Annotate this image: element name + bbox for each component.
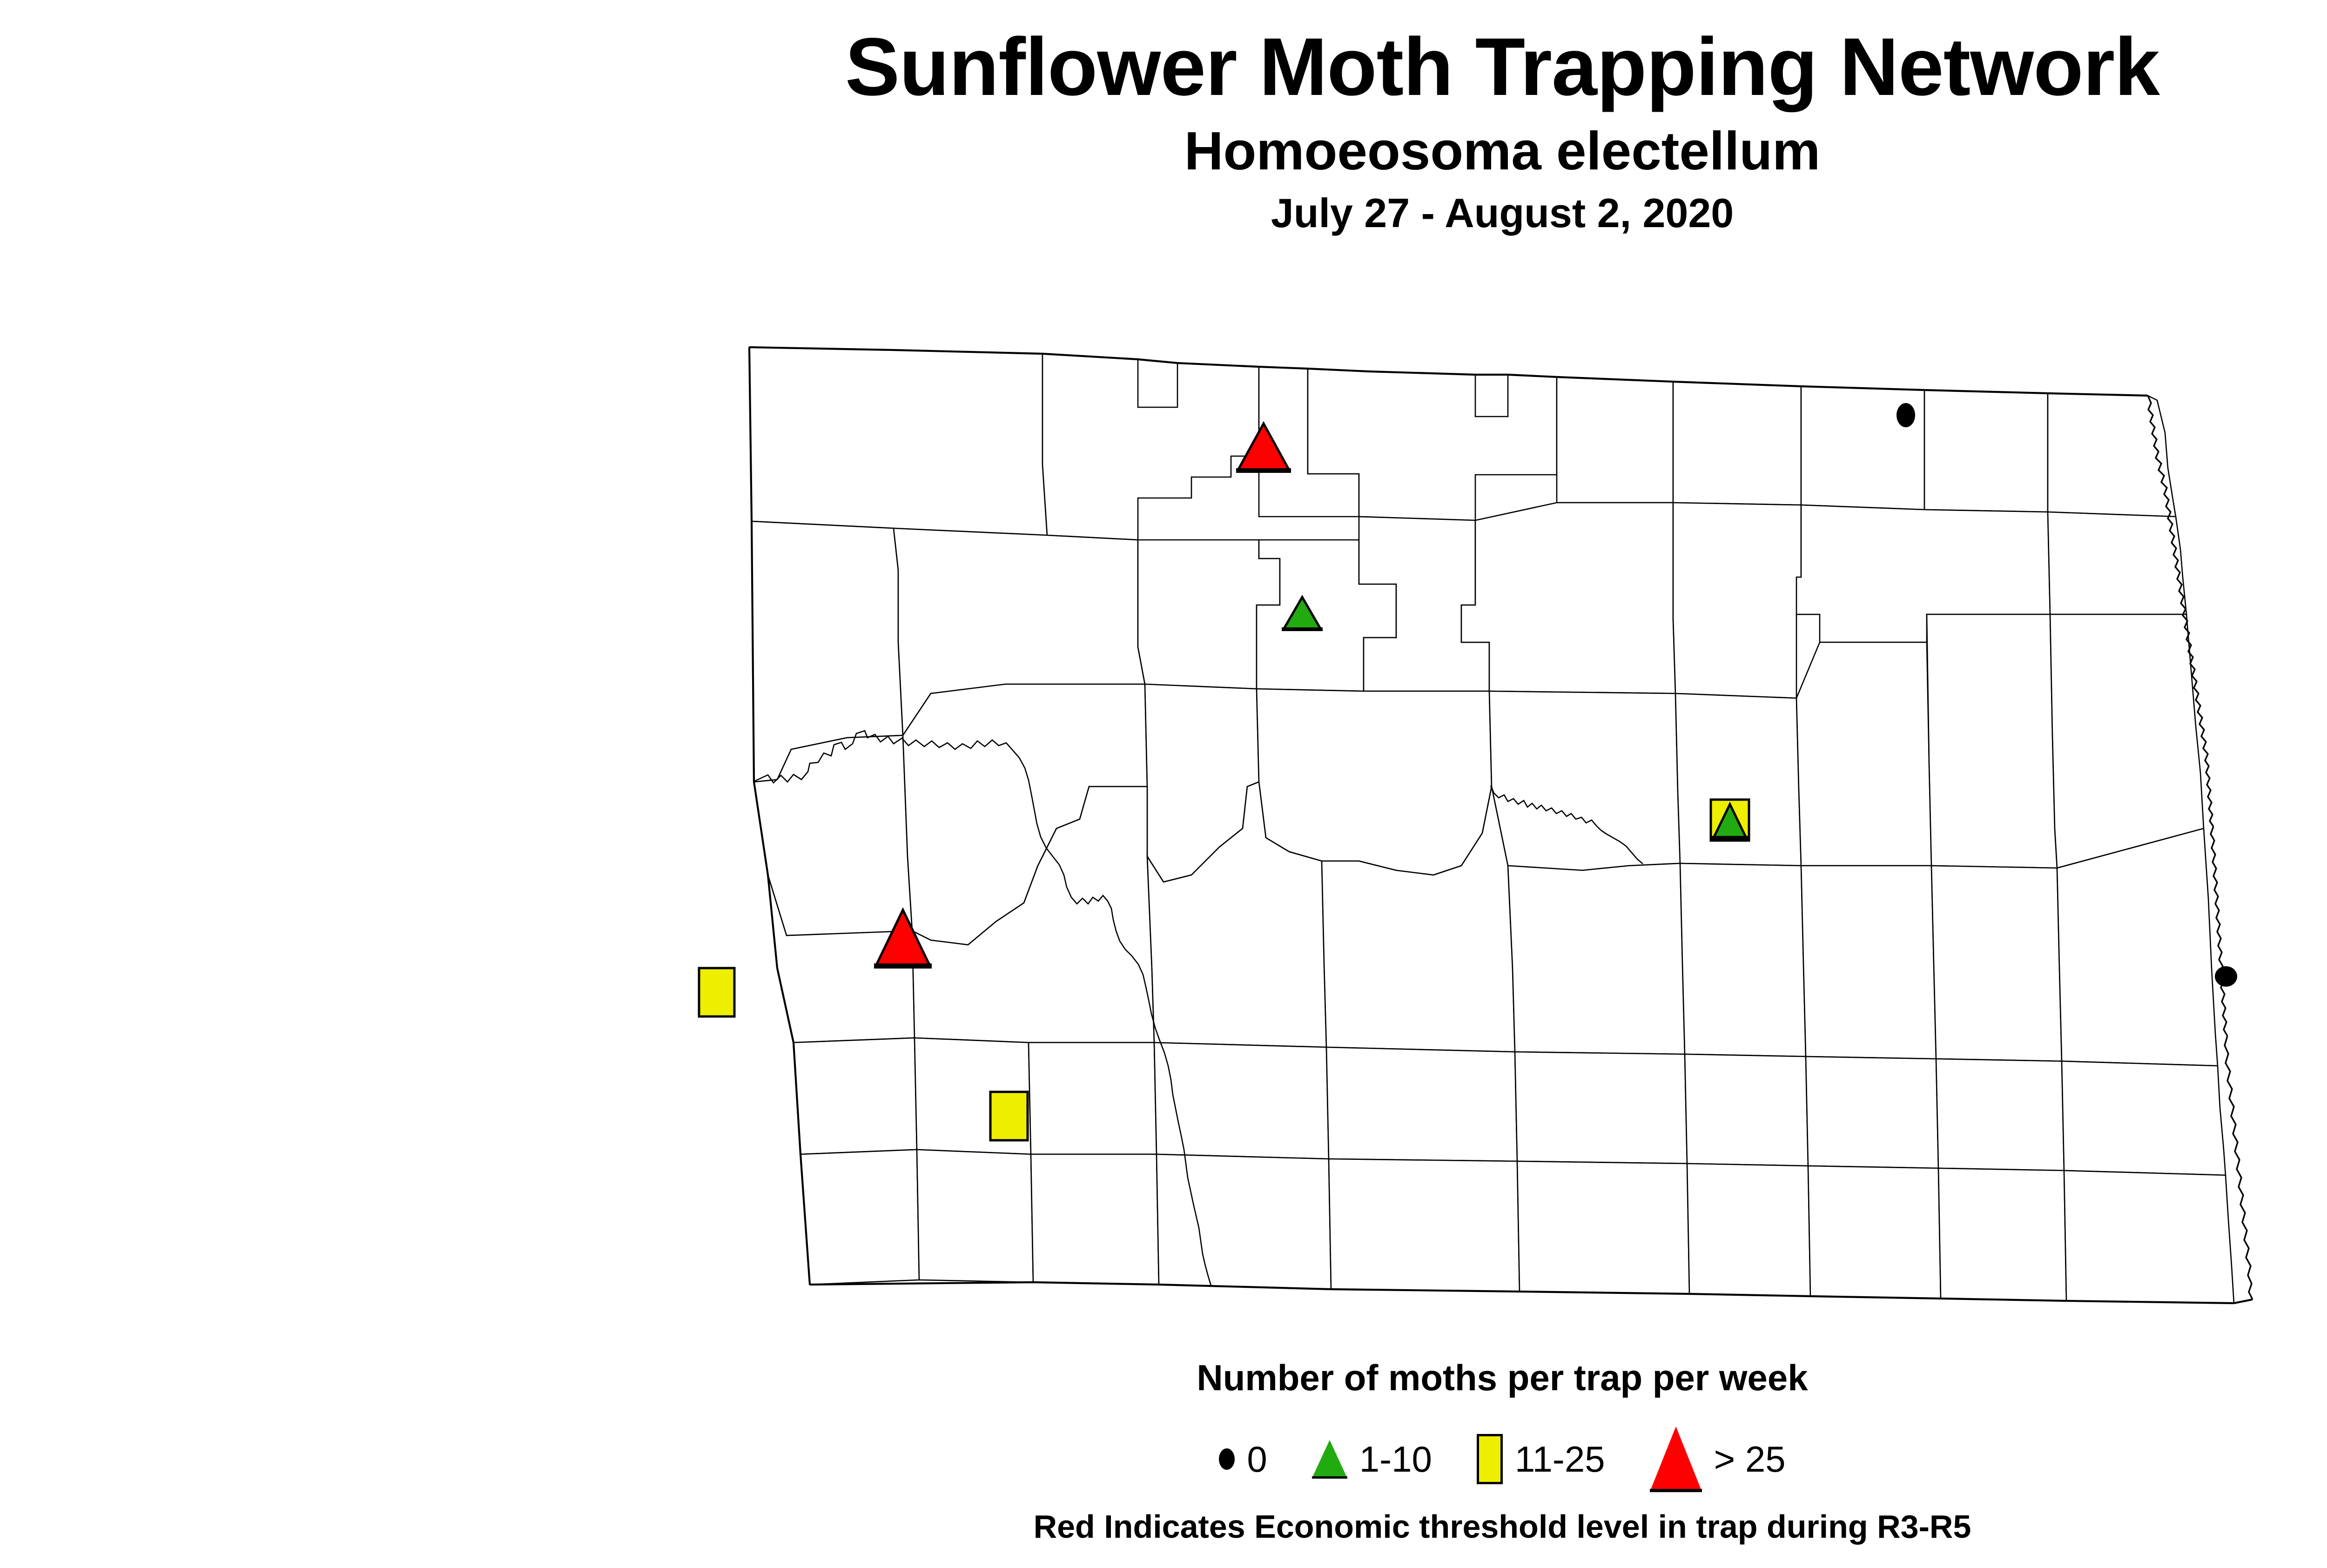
legend-label-eleven-to-twentyfive: 11-25 bbox=[1515, 1441, 1605, 1477]
legend-item-zero[interactable]: 0 bbox=[1219, 1441, 1267, 1477]
page-root: Sunflower Moth Trapping Network Homoeoso… bbox=[0, 0, 2327, 1568]
legend-footnote: Red Indicates Economic threshold level i… bbox=[0, 1508, 2327, 1545]
north-dakota-county-map bbox=[670, 316, 2327, 1331]
legend-item-eleven-to-twentyfive[interactable]: 11-25 bbox=[1477, 1434, 1605, 1484]
legend-heading: Number of moths per trap per week bbox=[0, 1357, 2327, 1399]
marker-black-dot-red-river[interactable] bbox=[2215, 966, 2237, 987]
marker-black-dot-northeast[interactable] bbox=[1897, 403, 1915, 427]
date-range-label: July 27 - August 2, 2020 bbox=[0, 193, 2327, 234]
species-subtitle: Homoeosoma electellum bbox=[0, 124, 2327, 178]
title-block: Sunflower Moth Trapping Network Homoeoso… bbox=[0, 26, 2327, 234]
legend-item-over-twentyfive[interactable]: > 25 bbox=[1650, 1427, 1786, 1492]
square-yellow-icon bbox=[1477, 1434, 1503, 1484]
marker-yellow-square-southwest[interactable] bbox=[699, 968, 734, 1016]
dot-icon bbox=[1219, 1448, 1235, 1470]
page-title: Sunflower Moth Trapping Network bbox=[0, 26, 2327, 108]
triangle-red-icon bbox=[1650, 1427, 1702, 1492]
legend-label-over-twentyfive: > 25 bbox=[1714, 1441, 1786, 1477]
county-boundaries bbox=[749, 347, 2234, 1303]
marker-yellow-square-south[interactable] bbox=[990, 1092, 1028, 1140]
legend-label-one-to-ten: 1-10 bbox=[1359, 1441, 1432, 1477]
triangle-green-icon bbox=[1312, 1440, 1347, 1478]
legend-item-one-to-ten[interactable]: 1-10 bbox=[1312, 1440, 1432, 1478]
legend-row: 0 1-10 11-25 > 25 bbox=[0, 1427, 2327, 1492]
legend-label-zero: 0 bbox=[1247, 1441, 1267, 1477]
